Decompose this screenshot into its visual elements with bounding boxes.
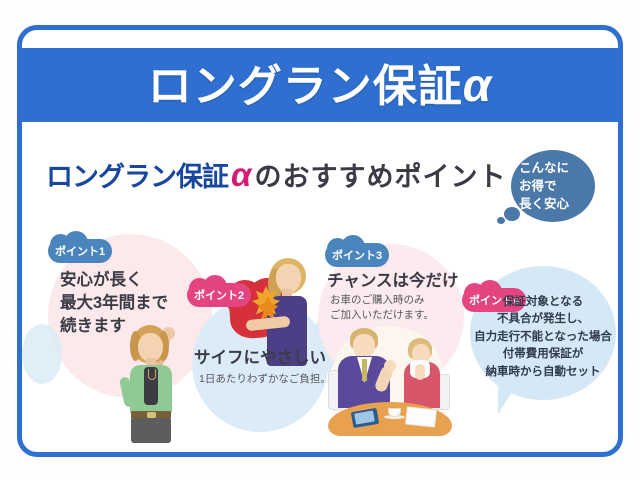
point-4-body-line-3: 自力走行不能となった場合 — [470, 329, 616, 346]
point-1-heading-line-1: 安心が長く — [60, 269, 168, 292]
point-2-sub-line-1: 1日あたりわずかなご負担。 — [199, 372, 331, 387]
decorative-blob-left — [22, 324, 62, 384]
point-2-heading-line-1: サイフにやさしい — [194, 347, 326, 370]
poster-canvas: ロングラン保証α ロングラン保証αのおすすめポイント こんなに お得で 長く安心… — [0, 0, 640, 480]
subtitle: ロングラン保証αのおすすめポイント — [46, 158, 506, 191]
point-3-sub-line-1: お車のご購入時のみ — [330, 293, 434, 308]
title-band: ロングラン保証α — [17, 48, 623, 122]
page-title: ロングラン保証α — [148, 62, 493, 109]
point-3-badge: ポイント3 — [325, 243, 389, 267]
point-2-badge-label: ポイント2 — [187, 283, 251, 307]
tip-bubble-tail-large — [504, 207, 520, 221]
point-4-bubble-tail — [498, 382, 528, 414]
tip-line-2: お得で — [511, 177, 595, 195]
tip-speech-bubble: こんなに お得で 長く安心 — [511, 150, 595, 222]
skirt-shape — [131, 418, 171, 443]
necktie-shape — [362, 359, 367, 381]
hand-shape — [415, 364, 425, 380]
point-2-heading: サイフにやさしい — [194, 347, 326, 370]
necklace-shape — [148, 369, 156, 380]
point-1-heading-line-2: 最大3年間まで — [60, 292, 168, 315]
point-3-table-illustration — [322, 326, 458, 438]
tip-line-3: 長く安心 — [511, 195, 595, 213]
tip-bubble-tail-small — [497, 217, 505, 224]
point-1-badge-label: ポイント1 — [48, 239, 112, 263]
point-3-heading-line-1: チャンスは今だけ — [327, 270, 459, 293]
point-3-subtext: お車のご購入時のみ ご加入いただけます。 — [330, 293, 434, 323]
subtitle-alpha-text: α — [228, 156, 254, 193]
tip-line-1: こんなに — [511, 159, 595, 177]
point-4-body-line-1: 保証対象となる — [470, 294, 616, 311]
point-1-woman-illustration — [118, 325, 188, 443]
point-4-body: 保証対象となる 不具合が発生し、 自力走行不能となった場合 付帯費用保証が 納車… — [470, 294, 616, 381]
point-4-body-line-5: 納車時から自動セット — [470, 364, 616, 381]
point-3-heading: チャンスは今だけ — [327, 270, 459, 293]
title-alpha-text: α — [463, 59, 493, 111]
point-4-body-line-2: 不具合が発生し、 — [470, 311, 616, 328]
hand-shape — [384, 360, 396, 372]
point-4-body-line-4: 付帯費用保証が — [470, 346, 616, 363]
subtitle-brand-text: ロングラン保証 — [46, 162, 228, 192]
point-3-badge-label: ポイント3 — [325, 243, 389, 267]
point-2-badge: ポイント2 — [187, 283, 251, 307]
subtitle-tail-text: のおすすめポイント — [254, 162, 506, 192]
point-2-subtext: 1日あたりわずかなご負担。 — [199, 372, 331, 387]
title-brand-text: ロングラン保証 — [148, 62, 463, 111]
point-3-sub-line-2: ご加入いただけます。 — [330, 308, 434, 323]
document-paper-icon — [405, 406, 437, 427]
point-1-badge: ポイント1 — [48, 239, 112, 263]
